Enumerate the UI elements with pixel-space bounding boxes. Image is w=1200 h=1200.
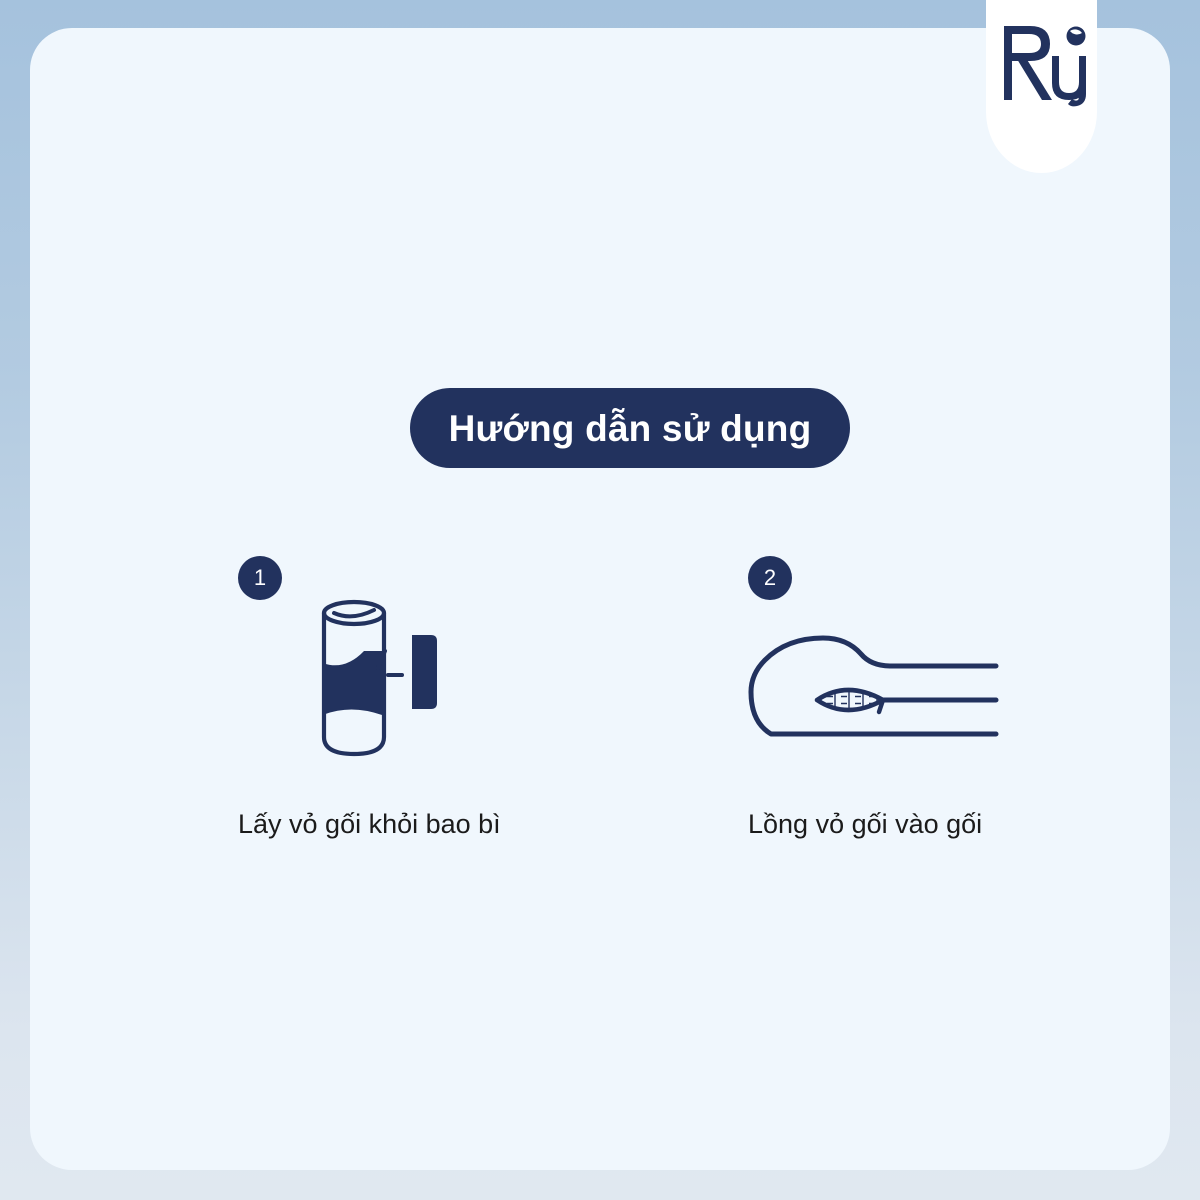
pillow-insert-icon	[743, 588, 1013, 788]
step-2-number: 2	[764, 567, 776, 589]
pillow-opening-shape	[817, 690, 883, 710]
step-1-number: 1	[254, 567, 266, 589]
brand-tab	[986, 0, 1097, 173]
step-2-caption: Lồng vỏ gối vào gối	[748, 808, 982, 840]
step-2: 2	[748, 556, 1170, 600]
page-title: Hướng dẫn sử dụng	[449, 410, 812, 447]
pillowcase-package-roll-icon	[290, 588, 590, 788]
instruction-card: Hướng dẫn sử dụng 1	[30, 28, 1170, 1170]
instruction-graphic: Hướng dẫn sử dụng 1	[0, 0, 1200, 1200]
page-title-pill: Hướng dẫn sử dụng	[410, 388, 850, 468]
step-1: 1	[238, 556, 688, 600]
step-1-caption: Lấy vỏ gối khỏi bao bì	[238, 808, 501, 840]
step-1-number-badge: 1	[238, 556, 282, 600]
ru-wordmark-logo	[986, 22, 1097, 113]
